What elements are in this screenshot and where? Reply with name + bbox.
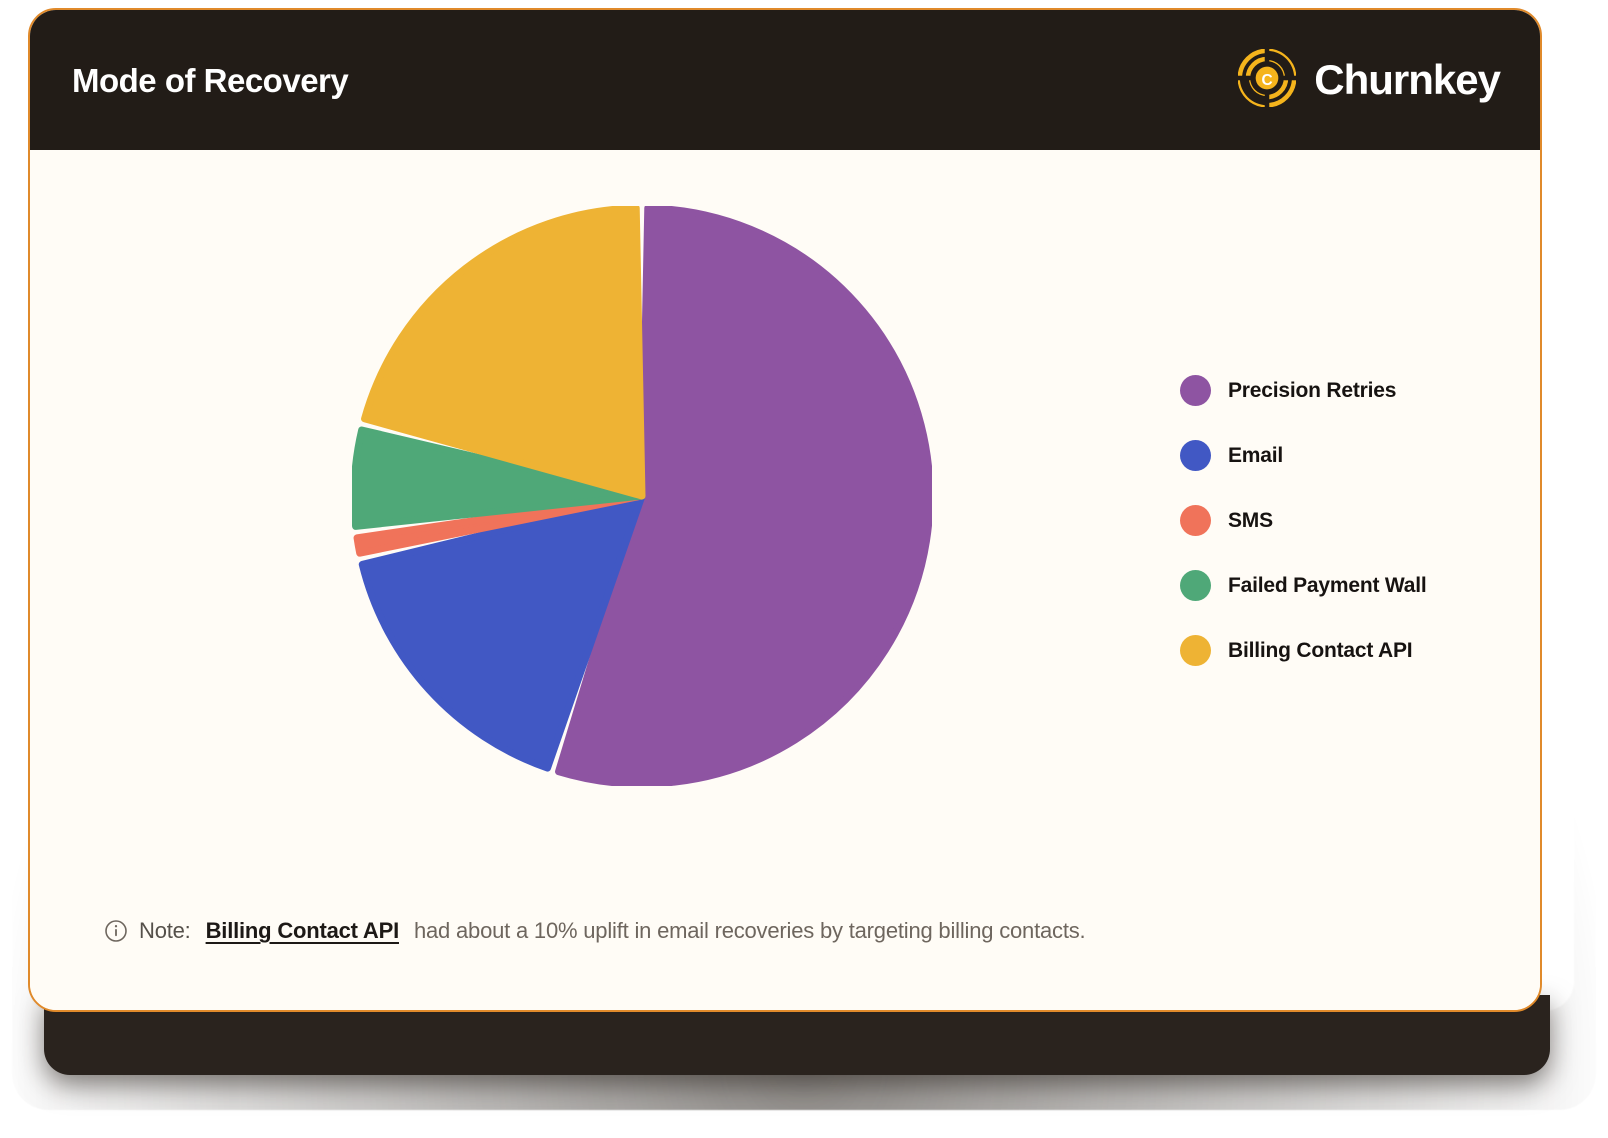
brand-name: Churnkey (1314, 59, 1500, 101)
legend-swatch-icon (1180, 635, 1211, 666)
legend-item-label: Precision Retries (1228, 379, 1396, 403)
legend-swatch-icon (1180, 570, 1211, 601)
note-highlight-link[interactable]: Billing Contact API (206, 918, 399, 944)
pie-chart-svg (352, 206, 932, 786)
pie-chart (352, 206, 932, 786)
note-text: had about a 10% uplift in email recoveri… (414, 918, 1085, 944)
legend-swatch-icon (1180, 375, 1211, 406)
churnkey-logo-icon: C (1238, 49, 1296, 112)
page-stage: Mode of Recovery C (0, 0, 1608, 1138)
legend-item-sms[interactable]: SMS (1180, 505, 1520, 536)
legend-swatch-icon (1180, 505, 1211, 536)
report-card: Mode of Recovery C (28, 8, 1542, 1012)
chart-note: Note: Billing Contact API had about a 10… (104, 918, 1085, 944)
legend-item-failed-payment-wall[interactable]: Failed Payment Wall (1180, 570, 1520, 601)
chart-legend: Precision Retries Email SMS Failed Payme… (1180, 375, 1520, 666)
legend-item-billing-contact-api[interactable]: Billing Contact API (1180, 635, 1520, 666)
info-circle-icon (104, 919, 128, 943)
card-body: Precision Retries Email SMS Failed Payme… (30, 150, 1540, 1010)
chart-area (30, 150, 1170, 870)
legend-swatch-icon (1180, 440, 1211, 471)
legend-item-email[interactable]: Email (1180, 440, 1520, 471)
legend-item-label: Failed Payment Wall (1228, 574, 1426, 598)
legend-item-label: Email (1228, 444, 1283, 468)
brand-lockup: C Churnkey (1238, 49, 1500, 112)
note-label: Note: (139, 918, 191, 944)
card-header: Mode of Recovery C (30, 10, 1540, 150)
page-title: Mode of Recovery (72, 64, 348, 97)
legend-item-label: Billing Contact API (1228, 639, 1412, 663)
legend-item-precision-retries[interactable]: Precision Retries (1180, 375, 1520, 406)
svg-text:C: C (1262, 71, 1273, 88)
legend-item-label: SMS (1228, 509, 1273, 533)
